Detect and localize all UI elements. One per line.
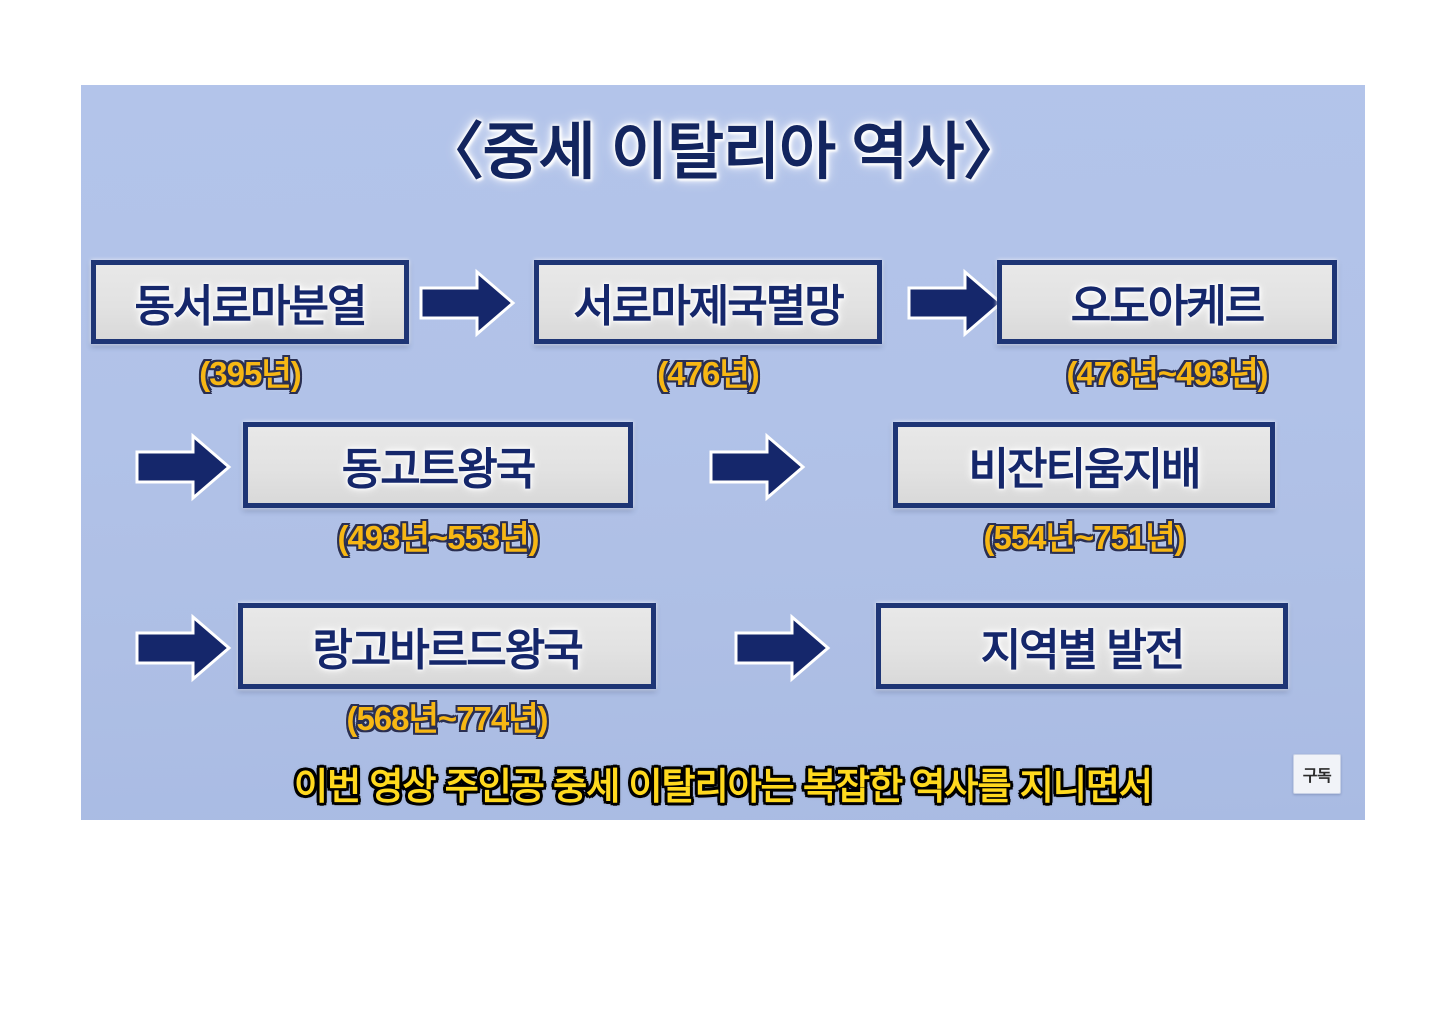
node-box[interactable]: 서로마제국멸망 [534, 260, 882, 344]
node-label: 랑고바르드왕국 [312, 614, 581, 678]
node-box[interactable]: 오도아케르 [997, 260, 1337, 344]
arrow-right-icon [736, 615, 828, 681]
flow-node-ostrogothic-kingdom[interactable]: 동고트왕국 (493년~553년) [243, 422, 633, 559]
flow-node-regional-development[interactable]: 지역별 발전 [876, 603, 1288, 692]
node-label: 동서로마분열 [135, 270, 366, 334]
node-caption: (568년~774년) [238, 692, 656, 740]
subscribe-button[interactable]: 구독 [1293, 754, 1341, 794]
flow-row-2: 동고트왕국 (493년~553년) 비잔티움지배 (554년~751년) [81, 422, 1365, 562]
flow-row-1: 동서로마분열 (395년) 서로마제국멸망 (476년) 오도아케르 (476년… [81, 260, 1365, 400]
node-label: 비잔티움지배 [969, 433, 1200, 497]
node-label: 지역별 발전 [981, 614, 1184, 678]
node-caption: (554년~751년) [893, 511, 1275, 559]
node-box[interactable]: 비잔티움지배 [893, 422, 1275, 508]
node-caption: (493년~553년) [243, 511, 633, 559]
flow-node-lombard-kingdom[interactable]: 랑고바르드왕국 (568년~774년) [238, 603, 656, 740]
node-caption: (476년~493년) [997, 347, 1337, 395]
flow-node-western-roman-empire-fall[interactable]: 서로마제국멸망 (476년) [534, 260, 882, 395]
node-box[interactable]: 동서로마분열 [91, 260, 409, 344]
arrow-right-icon [909, 270, 1001, 336]
node-caption: (476년) [534, 347, 882, 395]
node-label: 서로마제국멸망 [573, 270, 842, 334]
flow-row-3: 랑고바르드왕국 (568년~774년) 지역별 발전 [81, 603, 1365, 743]
flow-node-byzantine-rule[interactable]: 비잔티움지배 (554년~751년) [893, 422, 1275, 559]
node-box[interactable]: 지역별 발전 [876, 603, 1288, 689]
slide-canvas: 〈중세 이탈리아 역사〉 동서로마분열 (395년) 서로마제국멸망 (476년… [81, 85, 1365, 820]
flow-node-east-west-rome-split[interactable]: 동서로마분열 (395년) [91, 260, 409, 395]
node-box[interactable]: 랑고바르드왕국 [238, 603, 656, 689]
flow-node-odoacer[interactable]: 오도아케르 (476년~493년) [997, 260, 1337, 395]
arrow-right-icon [421, 270, 513, 336]
arrow-right-icon [711, 434, 803, 500]
node-caption: (395년) [91, 347, 409, 395]
arrow-right-icon [137, 434, 229, 500]
node-box[interactable]: 동고트왕국 [243, 422, 633, 508]
node-label: 동고트왕국 [342, 433, 534, 497]
arrow-right-icon [137, 615, 229, 681]
subtitle-caption: 이번 영상 주인공 중세 이탈리아는 복잡한 역사를 지니면서 [81, 756, 1365, 810]
page-title: 〈중세 이탈리아 역사〉 [81, 101, 1365, 191]
node-label: 오도아케르 [1071, 270, 1263, 334]
